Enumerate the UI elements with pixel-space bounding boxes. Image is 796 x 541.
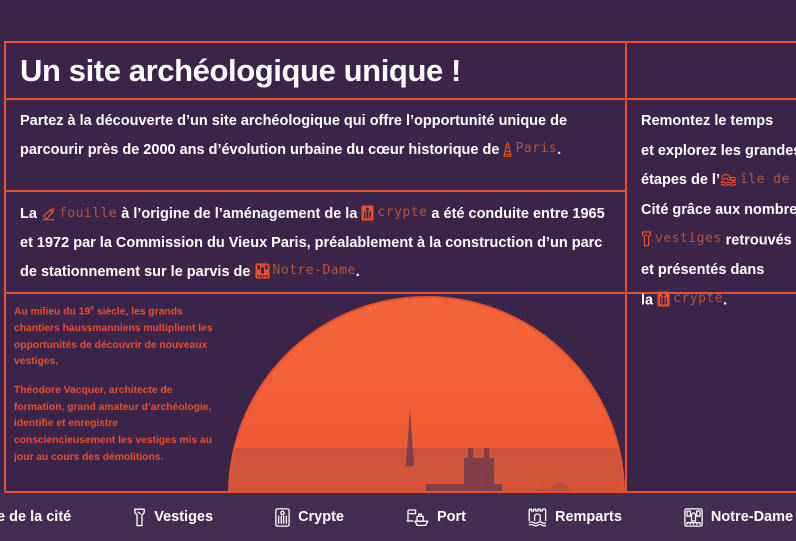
intro-line-2-lead: près de 2000 ans d’évolution urbaine du …: [88, 142, 500, 158]
photo-inner: [230, 298, 623, 491]
side-line-4-tail: grâce aux nombreu: [668, 202, 796, 218]
nav-label: Crypte: [298, 509, 344, 525]
nav-item-crypte[interactable]: Crypte: [275, 508, 344, 527]
intro-line-2-tail: .: [557, 142, 561, 158]
tag-crypte[interactable]: crypte: [361, 200, 427, 226]
tag-crypte-side[interactable]: crypte: [657, 286, 723, 313]
tag-crypte-side-label: crypte: [673, 286, 723, 313]
excavation-text-a: La: [20, 206, 37, 222]
tag-vestiges-label: vestiges: [655, 226, 722, 253]
nav-item-vestiges[interactable]: Vestiges: [133, 508, 213, 527]
title-band: Un site archéologique unique !: [6, 43, 625, 98]
caption-p1-lead: Au milieu du 19: [14, 306, 90, 317]
tag-vestiges[interactable]: vestiges: [641, 226, 722, 253]
caption-paragraph-2: Théodore Vacquer, architecte de formatio…: [14, 383, 219, 466]
nav-label: Remparts: [555, 509, 622, 525]
side-line-2: et explorez les grandes: [641, 137, 796, 167]
photo-region: Vue aérienne de l’île de la Cité: [228, 296, 625, 491]
aerial-photo-illustration: [230, 298, 623, 491]
cathedral-icon: [255, 263, 270, 279]
side-panel: Remontez le temps et explorez les grande…: [641, 107, 796, 316]
trowel-icon: [41, 207, 56, 221]
nav-item-ile-de-la-cite[interactable]: Île de la cité: [0, 509, 71, 526]
tag-ile-de-la-cite[interactable]: île de la: [720, 167, 796, 194]
eiffel-tower-icon: [503, 141, 512, 157]
historical-caption: Au milieu du 19e siècle, les grands chan…: [14, 303, 219, 466]
tag-fouille[interactable]: fouille: [41, 201, 117, 227]
ramparts-icon: [528, 508, 547, 527]
side-line-5: vestiges retrouvés: [641, 226, 796, 256]
side-line-7-tail: .: [723, 292, 727, 308]
excavation-paragraph: La fouille à l’origine de l’aménagement …: [20, 200, 620, 287]
side-line-3: étapes de l’ île de la: [641, 166, 796, 196]
page-title: Un site archéologique unique !: [6, 53, 461, 89]
nav-label: Notre-Dame: [711, 509, 793, 525]
nav-label: Port: [437, 509, 466, 525]
page-root: Un site archéologique unique ! Partez à …: [0, 0, 796, 541]
tag-ile-label: île de la: [740, 167, 796, 194]
side-line-3-lead: étapes de l’: [641, 172, 720, 188]
port-icon: [406, 508, 429, 527]
crypt-icon: [361, 205, 374, 221]
crypt-icon: [275, 508, 290, 527]
tag-paris-label: Paris: [515, 136, 557, 162]
nav-label: Vestiges: [154, 509, 213, 525]
tag-ile-label-cont: Cité: [641, 202, 668, 218]
tag-paris[interactable]: Paris: [503, 136, 557, 162]
crypt-icon: [657, 291, 670, 307]
excavation-text-d: .: [356, 264, 360, 280]
tag-notre-dame[interactable]: Notre-Dame: [255, 258, 356, 284]
rule-below-excavation: [4, 292, 625, 294]
nav-item-port[interactable]: Port: [406, 508, 466, 527]
caption-paragraph-1: Au milieu du 19e siècle, les grands chan…: [14, 303, 219, 371]
cathedral-icon: [684, 508, 703, 527]
intro-paragraph: Partez à la découverte d’un site archéol…: [20, 107, 620, 165]
rule-below-title: [4, 98, 796, 100]
column-divider: [625, 41, 627, 493]
excavation-text-b: à l’origine de l’aménagement de la: [121, 206, 357, 222]
column-icon: [641, 231, 652, 247]
nav-item-notre-dame[interactable]: Notre-Dame: [684, 508, 793, 527]
nav-label: Île de la cité: [0, 509, 71, 525]
tag-notre-dame-label: Notre-Dame: [273, 258, 356, 284]
side-line-4: Cité grâce aux nombreu: [641, 196, 796, 226]
tag-crypte-label: crypte: [377, 200, 427, 226]
tag-fouille-label: fouille: [59, 201, 117, 227]
side-line-5-tail: retrouvés: [726, 232, 792, 248]
column-icon: [133, 508, 146, 527]
side-line-7: la crypte .: [641, 286, 796, 316]
rule-below-intro: [4, 190, 625, 192]
side-line-6: et présentés dans: [641, 256, 796, 286]
island-icon: [720, 172, 737, 187]
aerial-photo: Vue aérienne de l’île de la Cité: [228, 296, 625, 491]
nav-item-remparts[interactable]: Remparts: [528, 508, 622, 527]
bottom-navbar: Île de la cité Vestiges Crypte: [0, 493, 796, 541]
side-line-1: Remontez le temps: [641, 107, 796, 137]
side-line-7-lead: la: [641, 292, 653, 308]
